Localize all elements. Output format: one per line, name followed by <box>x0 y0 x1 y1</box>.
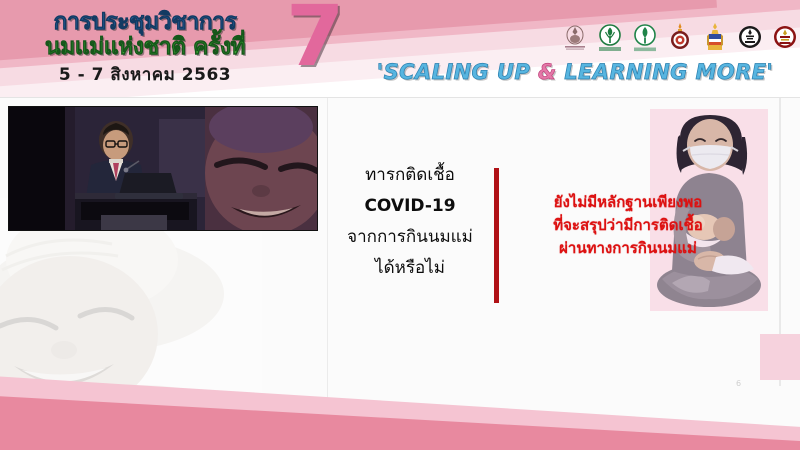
pediatric-society-logo <box>770 22 800 54</box>
conference-title-block: การประชุมวิชาการ นมแม่แห่งชาติ ครั้งที่ … <box>0 0 300 97</box>
royal-college-logo <box>700 22 730 54</box>
tagline-suffix: LEARNING MORE' <box>557 60 774 84</box>
red-vertical-divider <box>494 168 499 303</box>
column-divider <box>327 98 328 398</box>
sponsor-logo-row: สสส ThaiHealth <box>560 19 800 57</box>
slide-page-number: 6 <box>736 379 741 388</box>
question-line-3: จากการกินนมแม่ <box>330 222 490 253</box>
answer-text-block: ยังไม่มีหลักฐานเพียงพอ ที่จะสรุปว่ามีการ… <box>500 191 756 260</box>
speaker-photo <box>8 106 318 231</box>
department-health-logo <box>630 22 660 54</box>
footer-pale-corner <box>760 334 800 380</box>
tagline-ampersand: & <box>538 60 557 84</box>
nursing-council-logo <box>735 22 765 54</box>
conference-edition-number: 7 <box>286 0 344 78</box>
question-line-2: COVID-19 <box>330 191 490 222</box>
conference-tagline: 'SCALING UP & LEARNING MORE' <box>360 60 790 84</box>
question-text-block: ทารกติดเชื้อ COVID-19 จากการกินนมแม่ ได้… <box>330 160 490 284</box>
tagline-prefix: 'SCALING UP <box>377 60 538 84</box>
presentation-screenshot: การประชุมวิชาการ นมแม่แห่งชาติ ครั้งที่ … <box>0 0 800 450</box>
conference-date: 5 - 7 สิงหาคม 2563 <box>0 61 290 88</box>
question-line-1: ทารกติดเชื้อ <box>330 160 490 191</box>
question-line-4: ได้หรือไม่ <box>330 253 490 284</box>
answer-line-1: ยังไม่มีหลักฐานเพียงพอ <box>500 191 756 214</box>
royal-emblem-logo <box>560 22 590 54</box>
ministry-public-health-logo <box>595 22 625 54</box>
slide-canvas: ทารกติดเชื้อ COVID-19 จากการกินนมแม่ ได้… <box>0 97 800 450</box>
conference-header-banner: การประชุมวิชาการ นมแม่แห่งชาติ ครั้งที่ … <box>0 0 800 97</box>
conference-title-line-2: นมแม่แห่งชาติ ครั้งที่ <box>0 29 290 65</box>
answer-line-3: ผ่านทางการกินนมแม่ <box>500 237 756 260</box>
answer-line-2: ที่จะสรุปว่ามีการติดเชื้อ <box>500 214 756 237</box>
thai-breastfeeding-centre-logo <box>665 22 695 54</box>
